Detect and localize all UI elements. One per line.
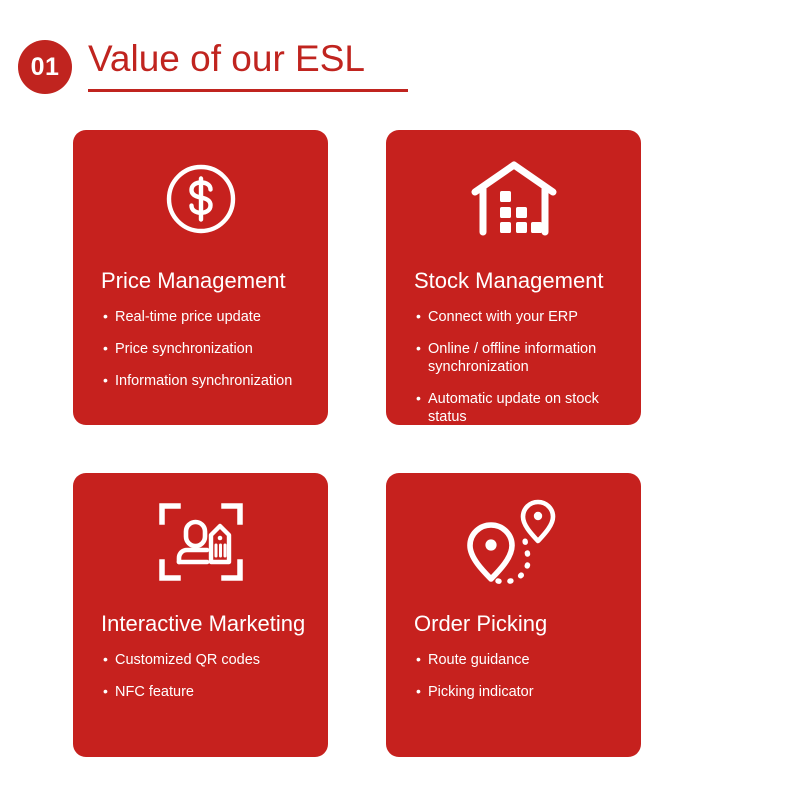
warehouse-house-icon	[386, 130, 641, 258]
card-title: Order Picking	[386, 611, 641, 637]
card-bullet-list: Route guidance Picking indicator	[386, 651, 641, 701]
card-bullet-list: Customized QR codes NFC feature	[73, 651, 328, 701]
list-item: Real-time price update	[103, 308, 314, 326]
feature-card-price-management[interactable]: Price Management Real-time price update …	[73, 130, 328, 425]
qr-scan-tag-icon	[73, 473, 328, 601]
card-title: Stock Management	[386, 268, 641, 294]
list-item: Customized QR codes	[103, 651, 314, 669]
feature-card-stock-management[interactable]: Stock Management Connect with your ERP O…	[386, 130, 641, 425]
list-item: Price synchronization	[103, 340, 314, 358]
page-title: Value of our ESL	[88, 36, 408, 82]
section-header: 01 Value of our ESL	[0, 0, 800, 118]
list-item: Online / offline information synchroniza…	[416, 340, 635, 376]
dollar-coin-icon	[73, 130, 328, 258]
list-item: Automatic update on stock status	[416, 390, 635, 426]
list-item: Connect with your ERP	[416, 308, 635, 326]
section-number-badge: 01	[18, 40, 72, 94]
page-title-wrap: Value of our ESL	[88, 36, 408, 92]
feature-card-interactive-marketing[interactable]: Interactive Marketing Customized QR code…	[73, 473, 328, 757]
map-pin-route-icon	[386, 473, 641, 601]
card-bullet-list: Connect with your ERP Online / offline i…	[386, 308, 641, 426]
feature-card-grid: Price Management Real-time price update …	[73, 130, 641, 757]
list-item: NFC feature	[103, 683, 314, 701]
feature-card-order-picking[interactable]: Order Picking Route guidance Picking ind…	[386, 473, 641, 757]
list-item: Picking indicator	[416, 683, 635, 701]
list-item: Information synchronization	[103, 372, 314, 390]
card-title: Interactive Marketing	[73, 611, 328, 637]
card-title: Price Management	[73, 268, 328, 294]
card-bullet-list: Real-time price update Price synchroniza…	[73, 308, 328, 390]
list-item: Route guidance	[416, 651, 635, 669]
title-underline	[88, 89, 408, 92]
slide-root: 01 Value of our ESL Price Management Rea…	[0, 0, 800, 800]
section-number-text: 01	[31, 55, 60, 80]
